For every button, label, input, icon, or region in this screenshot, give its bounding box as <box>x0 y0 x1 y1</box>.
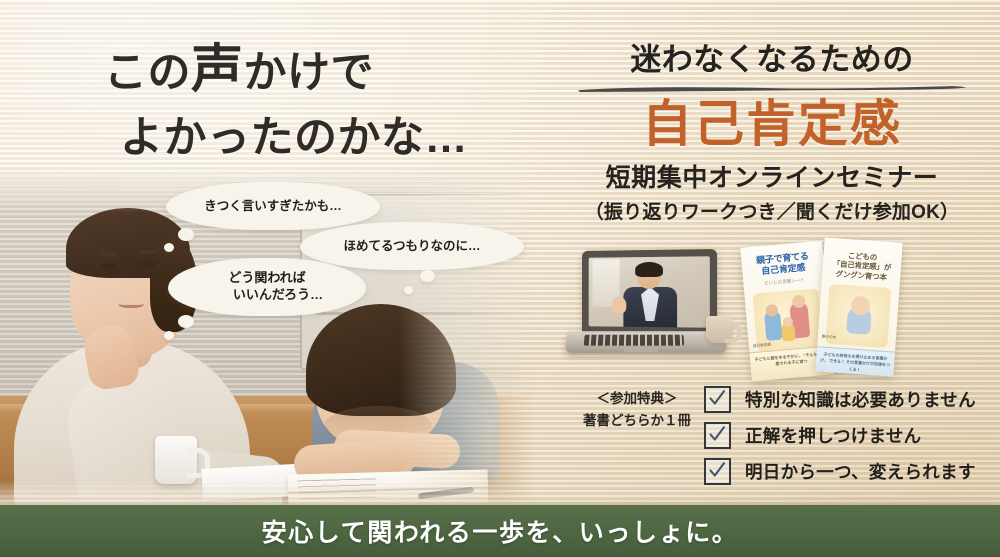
laptop-screen <box>589 256 710 327</box>
left-headline-line2: よかったのかな… <box>120 111 544 165</box>
book-1-illustration <box>752 288 823 352</box>
thought-bubble-3-line1: どう関われば <box>228 270 305 285</box>
seminar-title: 自己肯定感 <box>560 96 984 152</box>
right-headline-block: 迷わなくなるための 自己肯定感 短期集中オンラインセミナー （振り返りワークつき… <box>560 34 984 224</box>
beige-mug <box>706 316 732 343</box>
laptop-lid <box>582 249 717 335</box>
book-2-title: こどもの 「自己肯定感」が グングン育つ本 <box>822 249 902 282</box>
checklist-item: 特別な知識は必要ありません <box>704 386 976 413</box>
poster-canvas: この声かけで よかったのかな… きつく言いすぎたかも… ほめてるつもりなのに… … <box>0 0 1000 557</box>
presenter-hand <box>612 297 627 314</box>
checklist-item-label: 特別な知識は必要ありません <box>745 387 976 412</box>
seminar-note: （振り返りワークつき／聞くだけ参加OK） <box>560 197 984 224</box>
mother-eye-right <box>140 261 156 268</box>
left-headline-line1: この声かけで <box>104 38 544 104</box>
thought-bubble-3-line2: いいんだろう… <box>233 287 323 304</box>
book-2-spine-text: 親子の本 <box>822 334 837 340</box>
laptop-keyboard <box>584 335 685 346</box>
book-1-figure-toddler-head <box>782 316 793 327</box>
bonus-books: 親子で育てる 自己肯定感 だいじの言葉シート 自己肯定感 子どもと親をゆるやかに… <box>740 238 950 384</box>
seminar-subtitle: 短期集中オンラインセミナー <box>560 158 984 194</box>
mother-eye-left <box>100 263 116 270</box>
seminar-eyebrow: 迷わなくなるための <box>560 34 984 79</box>
white-mug <box>155 436 197 484</box>
checklist-item-label: 明日から一つ、変えられます <box>745 459 976 484</box>
notebook-writing <box>298 478 377 502</box>
benefits-checklist: 特別な知識は必要ありません 正解を押しつけません 明日から一つ、変えられます <box>704 386 976 494</box>
checklist-item: 明日から一つ、変えられます <box>704 458 976 485</box>
boy-hair <box>306 304 456 416</box>
check-icon <box>704 458 731 485</box>
thought-bubble-2-text: ほめてるつもりなのに… <box>343 238 480 254</box>
checklist-item-label: 正解を押しつけません <box>745 423 921 448</box>
check-icon <box>704 422 731 449</box>
book-cover-2: こどもの 「自己肯定感」が グングン育つ本 親子の本 子どもの気持ちを受け止める… <box>815 237 902 376</box>
laptop-base <box>565 331 728 353</box>
checklist-item: 正解を押しつけません <box>704 422 976 449</box>
left-headline-line1-a: この <box>104 49 191 97</box>
thought-bubble-1: きつく言いすぎたかも… <box>166 182 380 230</box>
presenter-hair <box>635 262 663 277</box>
left-headline: この声かけで よかったのかな… <box>104 38 544 165</box>
worried-mother-figure <box>8 208 258 508</box>
mother-mouth <box>118 298 144 308</box>
book-1-title: 親子で育てる 自己肯定感 <box>741 250 825 280</box>
check-icon <box>704 386 731 413</box>
thought-bubble-2: ほめてるつもりなのに… <box>300 222 524 270</box>
left-headline-emphasis: 声 <box>191 41 244 99</box>
bonus-label: ＜参加特典＞ 著書どちらか１冊 <box>572 388 702 432</box>
book-2-band-text: 子どもの気持ちを受け止める言葉かけ、 できる！ その言葉かけが自信をつくる！ <box>815 347 894 376</box>
bottom-banner: 安心して関われる一歩を、いっしょに。 <box>0 505 1000 557</box>
bonus-label-title: ＜参加特典＞ <box>572 388 702 410</box>
book-2-obi-band: 子どもの気持ちを受け止める言葉かけ、 できる！ その言葉かけが自信をつくる！ <box>815 346 895 376</box>
laptop-trackpad <box>624 347 659 353</box>
thought-bubble-3-text: どう関われば いいんだろう… <box>211 270 323 304</box>
thought-bubble-3: どう関われば いいんだろう… <box>168 258 366 316</box>
bottom-banner-text: 安心して関われる一歩を、いっしょに。 <box>262 513 739 549</box>
book-1-figure-child-head <box>765 303 778 316</box>
thought-bubble-1-text: きつく言いすぎたかも… <box>204 198 342 214</box>
sleeping-boy-figure <box>268 282 508 508</box>
bonus-label-detail: 著書どちらか１冊 <box>572 410 702 432</box>
brush-underline-icon <box>576 84 968 94</box>
laptop-photo <box>566 250 726 362</box>
left-headline-line1-b: かけで <box>244 49 375 97</box>
